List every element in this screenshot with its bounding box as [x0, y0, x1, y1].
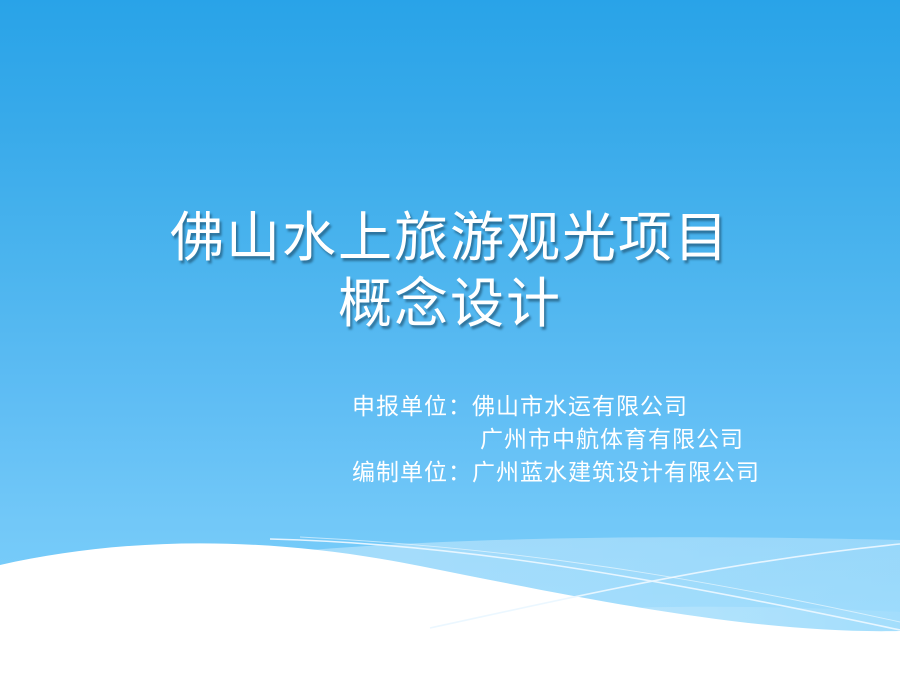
page-title: 佛山水上旅游观光项目 概念设计 [0, 205, 900, 337]
subtitle-group: 申报单位：佛山市水运有限公司 广州市中航体育有限公司 编制单位：广州蓝水建筑设计… [0, 390, 900, 489]
subtitle-applicant-line-1: 申报单位：佛山市水运有限公司 [352, 390, 900, 423]
subtitle-preparer-line: 编制单位：广州蓝水建筑设计有限公司 [352, 456, 900, 489]
subtitle-applicant-line-2: 广州市中航体育有限公司 [352, 423, 900, 456]
title-line-2: 概念设计 [0, 271, 900, 337]
title-slide: 佛山水上旅游观光项目 概念设计 申报单位：佛山市水运有限公司 广州市中航体育有限… [0, 0, 900, 689]
title-line-1: 佛山水上旅游观光项目 [0, 205, 900, 271]
wave-decoration [0, 0, 900, 689]
